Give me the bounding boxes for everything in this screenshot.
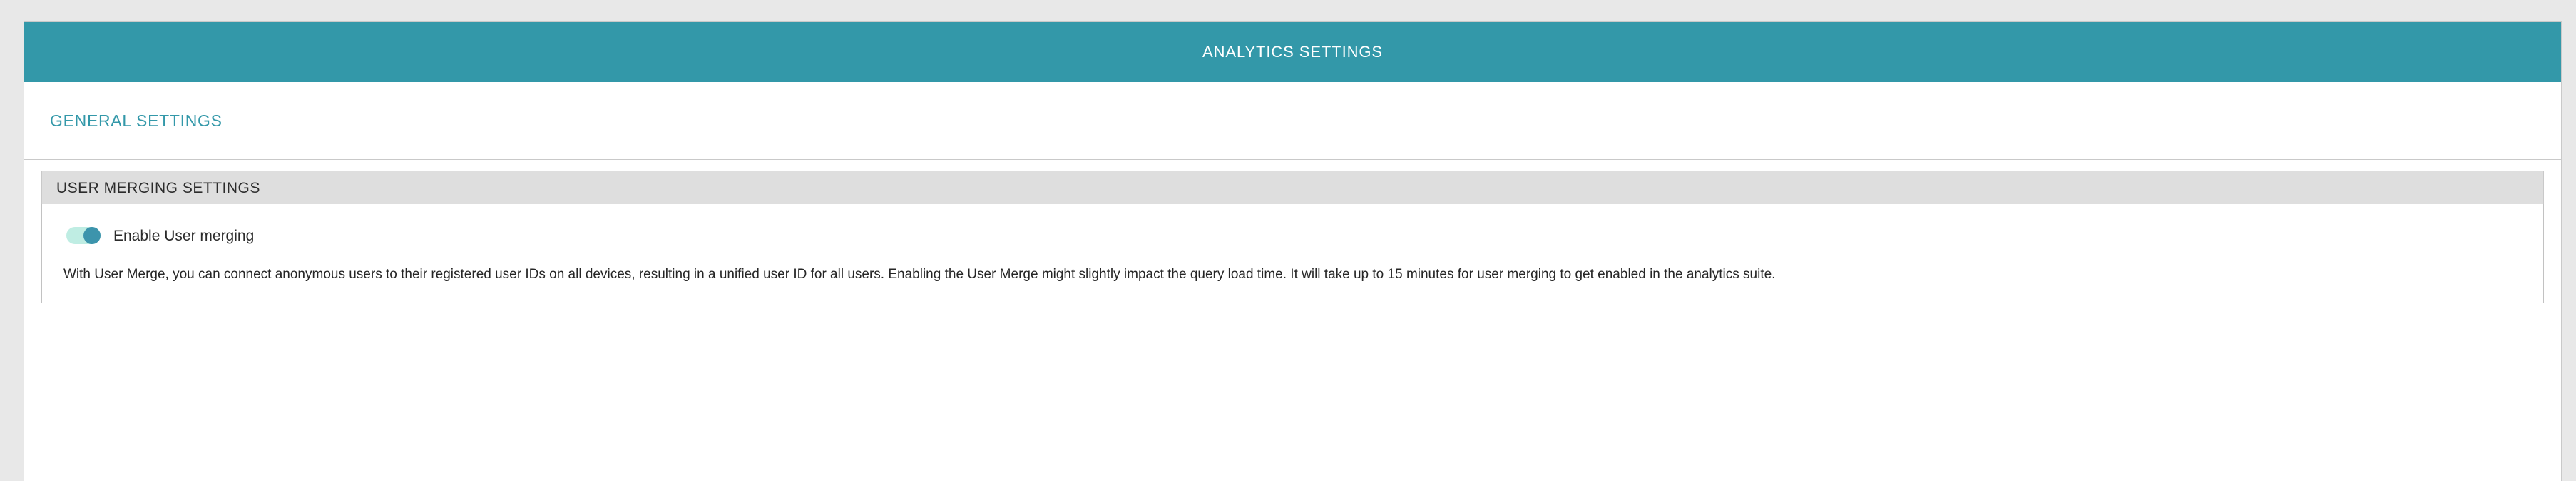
- analytics-settings-screen: ANALYTICS SETTINGS GENERAL SETTINGS USER…: [0, 0, 2576, 481]
- page-title: ANALYTICS SETTINGS: [1202, 44, 1383, 60]
- user-merging-description: With User Merge, you can connect anonymo…: [56, 265, 2529, 284]
- tab-general-settings[interactable]: GENERAL SETTINGS: [50, 113, 223, 129]
- panel-header-user-merging: USER MERGING SETTINGS: [41, 171, 2544, 204]
- settings-body: USER MERGING SETTINGS Enable User mergin…: [24, 160, 2561, 303]
- panel-body-user-merging: Enable User merging With User Merge, you…: [41, 204, 2544, 303]
- panel-title: USER MERGING SETTINGS: [56, 181, 260, 196]
- settings-tab-strip: GENERAL SETTINGS: [24, 82, 2561, 160]
- enable-user-merging-row: Enable User merging: [56, 227, 2529, 244]
- enable-user-merging-toggle[interactable]: [66, 227, 101, 244]
- enable-user-merging-label: Enable User merging: [113, 228, 254, 243]
- page-header-bar: ANALYTICS SETTINGS: [24, 22, 2561, 82]
- user-merging-settings-panel: USER MERGING SETTINGS Enable User mergin…: [41, 171, 2544, 303]
- settings-card: ANALYTICS SETTINGS GENERAL SETTINGS USER…: [24, 21, 2562, 481]
- toggle-knob: [83, 227, 101, 244]
